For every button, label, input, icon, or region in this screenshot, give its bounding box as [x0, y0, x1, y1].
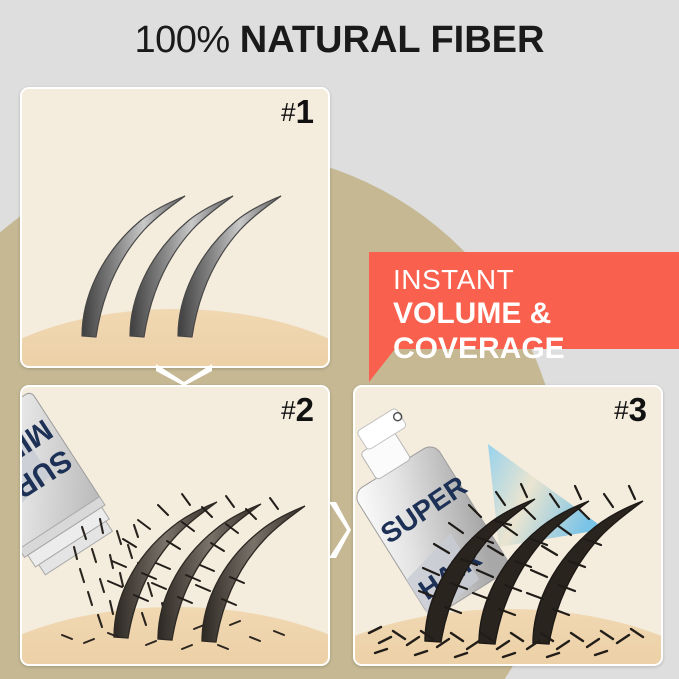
infographic-canvas: 100% NATURAL FIBER — [0, 0, 679, 679]
promo-line-volume-coverage: VOLUME & COVERAGE — [393, 297, 679, 366]
promo-banner-tail — [369, 349, 395, 382]
page-title: 100% NATURAL FIBER — [0, 21, 679, 59]
badge-hash: # — [281, 395, 295, 425]
badge-number: 3 — [629, 391, 647, 428]
title-percent: 100% — [135, 19, 230, 61]
badge-number: 2 — [296, 391, 314, 428]
badge-hash: # — [614, 395, 628, 425]
step-badge-3: #3 — [614, 393, 647, 426]
promo-banner: INSTANT VOLUME & COVERAGE — [369, 252, 679, 349]
panel-3-illustration: SUPER HAIR — [355, 387, 661, 664]
step-badge-2: #2 — [281, 393, 314, 426]
title-natural-fiber: NATURAL FIBER — [240, 19, 545, 61]
panel-2-illustration: SUPER MILL — [22, 387, 328, 664]
step-panel-2: SUPER MILL — [20, 385, 330, 666]
step-panel-3: SUPER HAIR — [353, 385, 663, 666]
promo-banner-text: INSTANT VOLUME & COVERAGE — [369, 252, 679, 349]
step-badge-1: #1 — [281, 95, 314, 128]
badge-number: 1 — [296, 93, 314, 130]
chevron-down-icon — [152, 362, 216, 386]
badge-hash: # — [281, 97, 295, 127]
step-panel-1: #1 — [20, 87, 330, 368]
promo-line-instant: INSTANT — [393, 264, 679, 296]
panel-1-illustration — [22, 89, 328, 366]
chevron-right-icon — [327, 498, 351, 562]
